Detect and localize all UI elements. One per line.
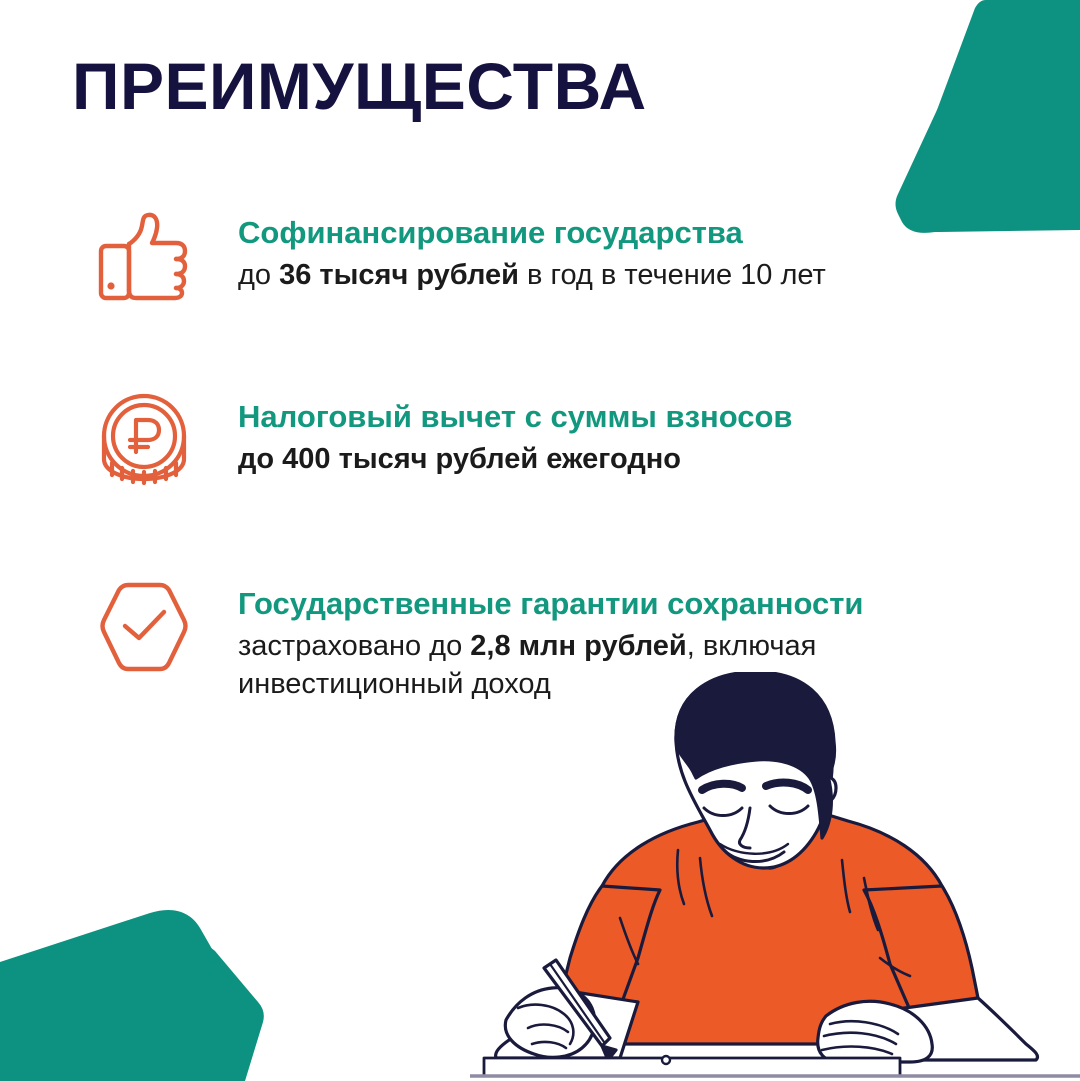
benefit-subtext: до 36 тысяч рублей в год в течение 10 ле… [238,256,826,294]
hexagon-check-icon [92,577,196,677]
ruble-coin-icon [92,390,196,490]
benefit-sub-part-1: до [238,259,279,291]
top-right-teal-shape [896,0,1080,233]
bottom-left-teal-shape-a [0,944,264,1081]
benefit-sub-part-2: 2,8 млн рублей [470,630,686,662]
man-writing-illustration [470,672,1080,1081]
benefit-text-block: Софинансирование государства до 36 тысяч… [238,206,826,294]
benefit-sub-part-1: застраховано до [238,630,470,662]
benefit-sub-part-3: , включая [687,630,817,662]
benefit-item-tax-deduction: Налоговый вычет с суммы взносов до 400 т… [92,390,792,490]
bottom-left-teal-quad [0,910,251,1081]
benefit-heading: Налоговый вычет с суммы взносов [238,398,792,436]
top-right-teal-quad [903,0,1080,232]
benefit-item-cofinancing: Софинансирование государства до 36 тысяч… [92,206,826,306]
benefit-heading: Софинансирование государства [238,214,826,252]
benefit-sub-part-1: до 400 тысяч рублей ежегодно [238,443,681,475]
benefit-sub-part-3: в год в течение 10 лет [519,259,826,291]
benefit-sub-part-2: 36 тысяч рублей [279,259,519,291]
thumbs-up-icon [92,206,196,306]
benefit-heading: Государственные гарантии сохранности [238,585,863,623]
benefit-text-block: Налоговый вычет с суммы взносов до 400 т… [238,390,792,478]
page-title: ПРЕИМУЩЕСТВА [72,52,647,121]
benefit-subtext: до 400 тысяч рублей ежегодно [238,440,792,478]
infographic-poster: ПРЕИМУЩЕСТВА Софинансирование государств… [0,0,1080,1081]
